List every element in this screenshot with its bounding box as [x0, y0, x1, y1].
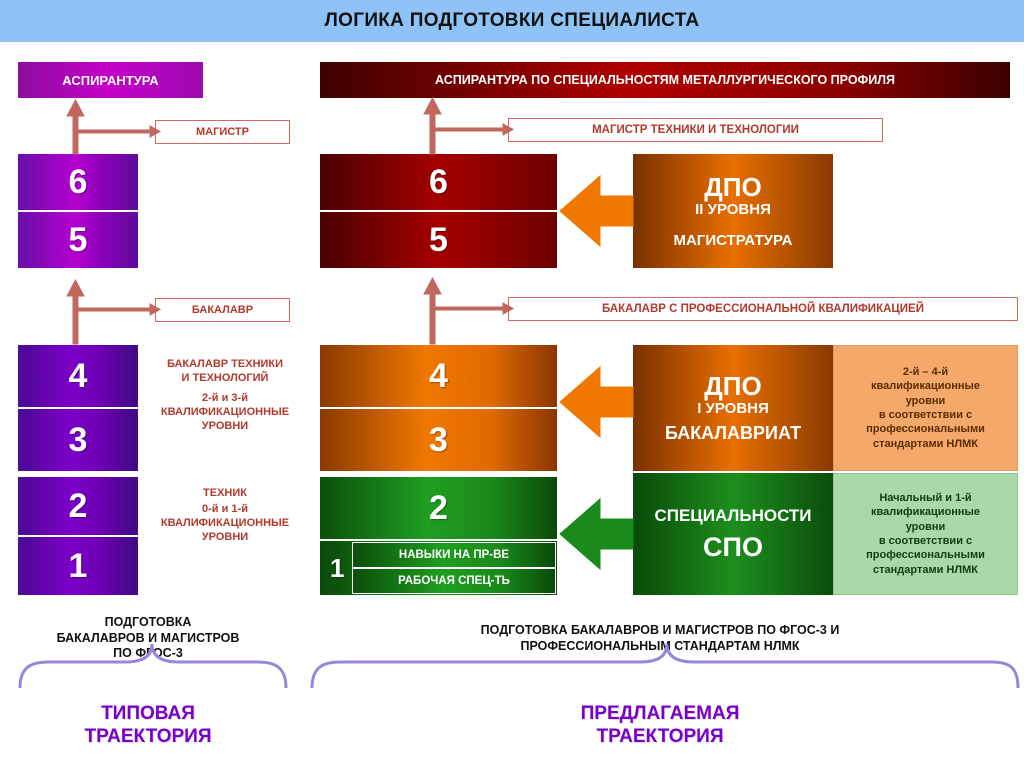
right-bachelor-label: БАКАЛАВР С ПРОФЕССИОНАЛЬНОЙ КВАЛИФИКАЦИЕ…	[508, 297, 1018, 321]
header-bar: ЛОГИКА ПОДГОТОВКИ СПЕЦИАЛИСТА	[0, 0, 1024, 42]
right-level-5: 5	[320, 212, 557, 268]
right-level-2-number: 2	[429, 489, 448, 528]
dpo-level-1-title: ДПО	[704, 372, 761, 401]
dpo-level-2-block: ДПО II УРОВНЯ МАГИСТРАТУРА	[633, 154, 833, 268]
right-level-1-number: 1	[330, 553, 344, 584]
left-level-6-number: 6	[69, 163, 88, 202]
left-note-bachelor: БАКАЛАВР ТЕХНИКИ И ТЕХНОЛОГИЙ	[150, 358, 300, 386]
right-sub-box-worker: РАБОЧАЯ СПЕЦ-ТЬ	[352, 568, 556, 594]
dpo-level-1-line2: I УРОВНЯ	[697, 400, 769, 417]
right-sub-box-skills: НАВЫКИ НА ПР-ВЕ	[352, 542, 556, 568]
right-level-5-number: 5	[429, 221, 448, 260]
left-level-3-number: 3	[69, 421, 88, 460]
left-level-2: 2	[18, 477, 138, 535]
spo-line1: СПЕЦИАЛЬНОСТИ	[654, 506, 811, 526]
right-level-4-number: 4	[429, 357, 448, 396]
left-level-1: 1	[18, 537, 138, 595]
right-level-2: 2	[320, 477, 557, 539]
right-level-3-number: 3	[429, 421, 448, 460]
left-level-2-number: 2	[69, 487, 88, 526]
left-level-6: 6	[18, 154, 138, 210]
page-title: ЛОГИКА ПОДГОТОВКИ СПЕЦИАЛИСТА	[325, 10, 700, 32]
dpo-level-2-line2: II УРОВНЯ	[695, 201, 771, 218]
right-trajectory-label: ПРЕДЛАГАЕМАЯ ТРАЕКТОРИЯ	[300, 703, 1020, 749]
left-bachelor-label: БАКАЛАВР	[155, 298, 290, 322]
left-level-5: 5	[18, 212, 138, 268]
diagram-root: ЛОГИКА ПОДГОТОВКИ СПЕЦИАЛИСТА АСПИРАНТУР…	[0, 0, 1024, 768]
left-note-technician-levels: 0-й и 1-й КВАЛИФИКАЦИОННЫЕ УРОВНИ	[150, 503, 300, 544]
right-level-6-number: 6	[429, 163, 448, 202]
right-caption: ПОДГОТОВКА БАКАЛАВРОВ И МАГИСТРОВ ПО ФГО…	[300, 623, 1020, 654]
right-postgraduate-box: АСПИРАНТУРА ПО СПЕЦИАЛЬНОСТЯМ МЕТАЛЛУРГИ…	[320, 62, 1010, 98]
left-trajectory-label: ТИПОВАЯ ТРАЕКТОРИЯ	[8, 703, 288, 749]
left-postgraduate-box: АСПИРАНТУРА	[18, 62, 203, 98]
left-note-bachelor-levels: 2-й и 3-й КВАЛИФИКАЦИОННЫЕ УРОВНИ	[150, 392, 300, 433]
dpo-level-1-line3: БАКАЛАВРИАТ	[665, 423, 801, 444]
right-level-6: 6	[320, 154, 557, 210]
left-level-4-number: 4	[69, 357, 88, 396]
right-master-label: МАГИСТР ТЕХНИКИ И ТЕХНОЛОГИИ	[508, 118, 883, 142]
left-note-technician: ТЕХНИК	[150, 487, 300, 501]
dpo-level-2-line3: МАГИСТРАТУРА	[673, 232, 792, 249]
left-master-label: МАГИСТР	[155, 120, 290, 144]
spo-line2: СПО	[703, 532, 763, 563]
side-note-levels-2-4: 2-й – 4-й квалификационные уровни в соот…	[833, 345, 1018, 471]
left-level-4: 4	[18, 345, 138, 407]
right-level-4: 4	[320, 345, 557, 407]
spo-block: СПЕЦИАЛЬНОСТИ СПО	[633, 473, 833, 595]
left-caption: ПОДГОТОВКА БАКАЛАВРОВ И МАГИСТРОВ ПО ФГО…	[8, 615, 288, 662]
dpo-level-2-title: ДПО	[704, 173, 761, 202]
side-note-levels-0-1: Начальный и 1-й квалификационные уровни …	[833, 473, 1018, 595]
left-level-5-number: 5	[69, 221, 88, 260]
dpo-level-1-block: ДПО I УРОВНЯ БАКАЛАВРИАТ	[633, 345, 833, 471]
left-level-1-number: 1	[69, 547, 88, 586]
left-level-3: 3	[18, 409, 138, 471]
right-level-3: 3	[320, 409, 557, 471]
